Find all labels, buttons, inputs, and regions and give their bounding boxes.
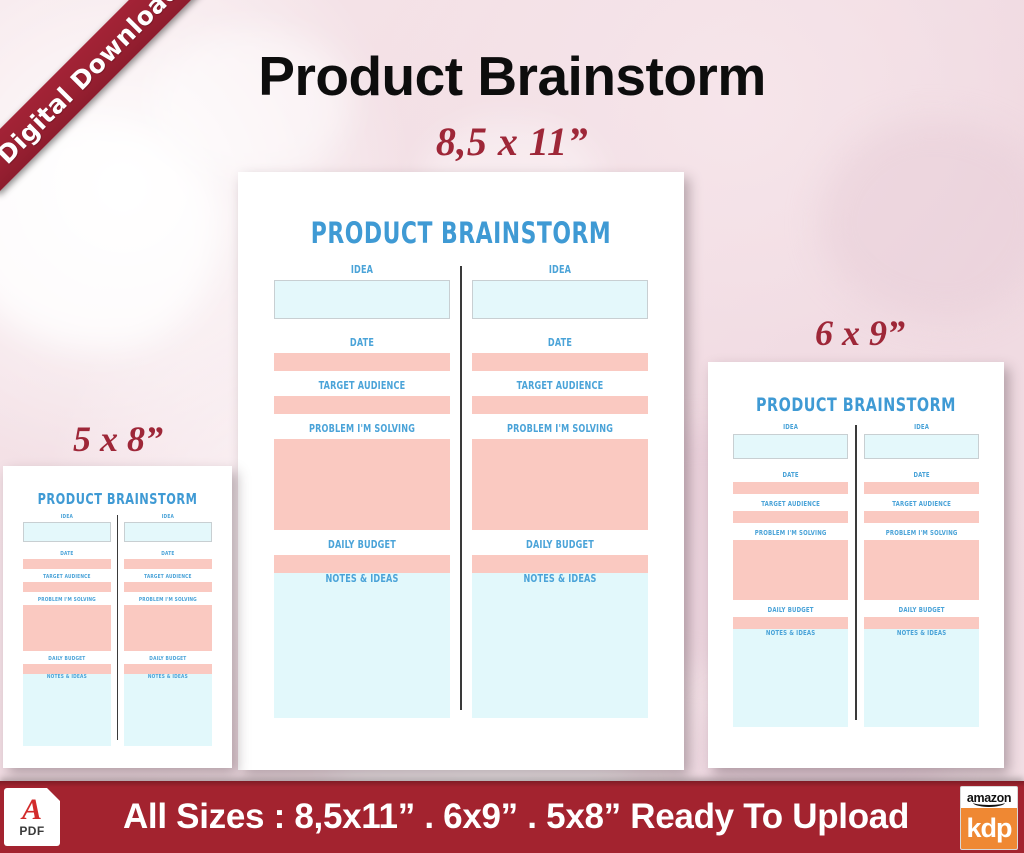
size-label-6x9: 6 x 9” bbox=[740, 312, 980, 354]
field-label-problem-solving: PROBLEM I'M SOLVING bbox=[29, 597, 104, 603]
field-label-idea: IDEA bbox=[286, 264, 437, 276]
sheet-title: PRODUCT BRAINSTORM bbox=[747, 394, 965, 416]
field-label-problem-solving: PROBLEM I'M SOLVING bbox=[286, 423, 437, 435]
field-box-idea[interactable] bbox=[23, 522, 111, 542]
field-label-daily-budget: DAILY BUDGET bbox=[741, 606, 840, 614]
field-box-problem-solving[interactable] bbox=[274, 439, 450, 530]
field-box-problem-solving[interactable] bbox=[864, 540, 979, 600]
field-label-idea: IDEA bbox=[872, 423, 971, 431]
field-label-notes-ideas: NOTES & IDEAS bbox=[872, 629, 971, 637]
sheet-columns: IDEA DATE TARGET AUDIENCE PROBLEM I'M SO… bbox=[17, 514, 218, 746]
field-label-target-audience: TARGET AUDIENCE bbox=[130, 574, 205, 580]
field-label-date: DATE bbox=[286, 337, 437, 349]
field-box-date[interactable] bbox=[864, 482, 979, 494]
page-title: Product Brainstorm bbox=[0, 44, 1024, 108]
sheet-column-left: IDEA DATE TARGET AUDIENCE PROBLEM I'M SO… bbox=[17, 514, 117, 746]
field-label-problem-solving: PROBLEM I'M SOLVING bbox=[130, 597, 205, 603]
field-label-notes-ideas: NOTES & IDEAS bbox=[29, 674, 104, 680]
field-label-problem-solving: PROBLEM I'M SOLVING bbox=[484, 423, 635, 435]
pdf-icon: A PDF bbox=[4, 788, 60, 846]
pdf-label: PDF bbox=[19, 824, 44, 838]
field-box-target-audience[interactable] bbox=[274, 396, 450, 414]
main-size-label: 8,5 x 11” bbox=[0, 118, 1024, 165]
field-box-date[interactable] bbox=[472, 353, 648, 371]
field-box-target-audience[interactable] bbox=[864, 511, 979, 523]
field-label-target-audience: TARGET AUDIENCE bbox=[741, 500, 840, 508]
field-label-daily-budget: DAILY BUDGET bbox=[286, 539, 437, 551]
amazon-swoosh-icon bbox=[973, 798, 1005, 807]
field-label-problem-solving: PROBLEM I'M SOLVING bbox=[872, 529, 971, 537]
sheet-columns: IDEA DATE TARGET AUDIENCE PROBLEM I'M SO… bbox=[726, 423, 986, 728]
sheet-column-left: IDEA DATE TARGET AUDIENCE PROBLEM I'M SO… bbox=[264, 264, 460, 718]
sheet-column-right: IDEA DATE TARGET AUDIENCE PROBLEM I'M SO… bbox=[857, 423, 986, 728]
banner-text: All Sizes : 8,5x11” . 6x9” . 5x8” Ready … bbox=[0, 797, 1024, 837]
field-box-date[interactable] bbox=[23, 559, 111, 569]
field-box-date[interactable] bbox=[124, 559, 212, 569]
field-box-idea[interactable] bbox=[274, 280, 450, 319]
field-box-problem-solving[interactable] bbox=[23, 605, 111, 651]
banner-top-shadow bbox=[0, 781, 1024, 787]
preview-sheet-6x9[interactable]: PRODUCT BRAINSTORM IDEA DATE TARGET AUDI… bbox=[708, 362, 1004, 768]
field-box-daily-budget[interactable] bbox=[23, 664, 111, 674]
field-label-target-audience: TARGET AUDIENCE bbox=[872, 500, 971, 508]
field-label-idea: IDEA bbox=[29, 514, 104, 520]
size-label-5x8: 5 x 8” bbox=[18, 418, 218, 460]
field-box-target-audience[interactable] bbox=[124, 582, 212, 592]
field-label-daily-budget: DAILY BUDGET bbox=[872, 606, 971, 614]
amazon-kdp-icon: amazon kdp bbox=[960, 786, 1018, 850]
pdf-fold-corner bbox=[47, 788, 60, 801]
field-box-target-audience[interactable] bbox=[733, 511, 848, 523]
field-box-notes-ideas[interactable]: NOTES & IDEAS bbox=[864, 629, 979, 727]
field-box-problem-solving[interactable] bbox=[472, 439, 648, 530]
field-box-notes-ideas[interactable]: NOTES & IDEAS bbox=[23, 674, 111, 746]
field-label-notes-ideas: NOTES & IDEAS bbox=[286, 573, 437, 585]
field-box-daily-budget[interactable] bbox=[733, 617, 848, 629]
field-label-notes-ideas: NOTES & IDEAS bbox=[130, 674, 205, 680]
field-box-target-audience[interactable] bbox=[472, 396, 648, 414]
field-box-idea[interactable] bbox=[864, 434, 979, 459]
field-label-notes-ideas: NOTES & IDEAS bbox=[484, 573, 635, 585]
field-label-daily-budget: DAILY BUDGET bbox=[130, 656, 205, 662]
kdp-label: kdp bbox=[966, 815, 1011, 842]
field-box-notes-ideas[interactable]: NOTES & IDEAS bbox=[733, 629, 848, 727]
sheet-column-right: IDEA DATE TARGET AUDIENCE PROBLEM I'M SO… bbox=[462, 264, 658, 718]
field-label-idea: IDEA bbox=[130, 514, 205, 520]
field-label-date: DATE bbox=[130, 551, 205, 557]
field-label-idea: IDEA bbox=[741, 423, 840, 431]
field-box-daily-budget[interactable] bbox=[124, 664, 212, 674]
sheet-column-left: IDEA DATE TARGET AUDIENCE PROBLEM I'M SO… bbox=[726, 423, 855, 728]
field-box-daily-budget[interactable] bbox=[274, 555, 450, 573]
field-label-date: DATE bbox=[872, 471, 971, 479]
sheet-title: PRODUCT BRAINSTORM bbox=[296, 216, 627, 250]
field-label-target-audience: TARGET AUDIENCE bbox=[484, 380, 635, 392]
amazon-wordmark: amazon bbox=[961, 787, 1017, 808]
preview-sheet-8x11[interactable]: PRODUCT BRAINSTORM IDEA DATE TARGET AUDI… bbox=[238, 172, 684, 770]
field-label-notes-ideas: NOTES & IDEAS bbox=[741, 629, 840, 637]
field-box-notes-ideas[interactable]: NOTES & IDEAS bbox=[124, 674, 212, 746]
field-box-problem-solving[interactable] bbox=[124, 605, 212, 651]
field-box-date[interactable] bbox=[274, 353, 450, 371]
field-box-notes-ideas[interactable]: NOTES & IDEAS bbox=[274, 573, 450, 718]
field-box-idea[interactable] bbox=[733, 434, 848, 459]
preview-sheet-5x8[interactable]: PRODUCT BRAINSTORM IDEA DATE TARGET AUDI… bbox=[3, 466, 232, 768]
bottom-banner: A PDF All Sizes : 8,5x11” . 6x9” . 5x8” … bbox=[0, 781, 1024, 853]
field-label-daily-budget: DAILY BUDGET bbox=[29, 656, 104, 662]
kdp-wordmark: kdp bbox=[961, 808, 1017, 849]
field-label-daily-budget: DAILY BUDGET bbox=[484, 539, 635, 551]
field-box-idea[interactable] bbox=[472, 280, 648, 319]
field-box-idea[interactable] bbox=[124, 522, 212, 542]
field-label-target-audience: TARGET AUDIENCE bbox=[29, 574, 104, 580]
sheet-title: PRODUCT BRAINSTORM bbox=[33, 490, 202, 508]
field-label-date: DATE bbox=[741, 471, 840, 479]
pdf-acrobat-glyph: A bbox=[22, 796, 42, 824]
field-box-problem-solving[interactable] bbox=[733, 540, 848, 600]
field-box-daily-budget[interactable] bbox=[472, 555, 648, 573]
field-label-idea: IDEA bbox=[484, 264, 635, 276]
field-box-date[interactable] bbox=[733, 482, 848, 494]
field-box-daily-budget[interactable] bbox=[864, 617, 979, 629]
sheet-columns: IDEA DATE TARGET AUDIENCE PROBLEM I'M SO… bbox=[264, 264, 658, 718]
field-label-date: DATE bbox=[29, 551, 104, 557]
field-label-date: DATE bbox=[484, 337, 635, 349]
field-label-problem-solving: PROBLEM I'M SOLVING bbox=[741, 529, 840, 537]
field-box-target-audience[interactable] bbox=[23, 582, 111, 592]
field-box-notes-ideas[interactable]: NOTES & IDEAS bbox=[472, 573, 648, 718]
sheet-column-right: IDEA DATE TARGET AUDIENCE PROBLEM I'M SO… bbox=[118, 514, 218, 746]
field-label-target-audience: TARGET AUDIENCE bbox=[286, 380, 437, 392]
